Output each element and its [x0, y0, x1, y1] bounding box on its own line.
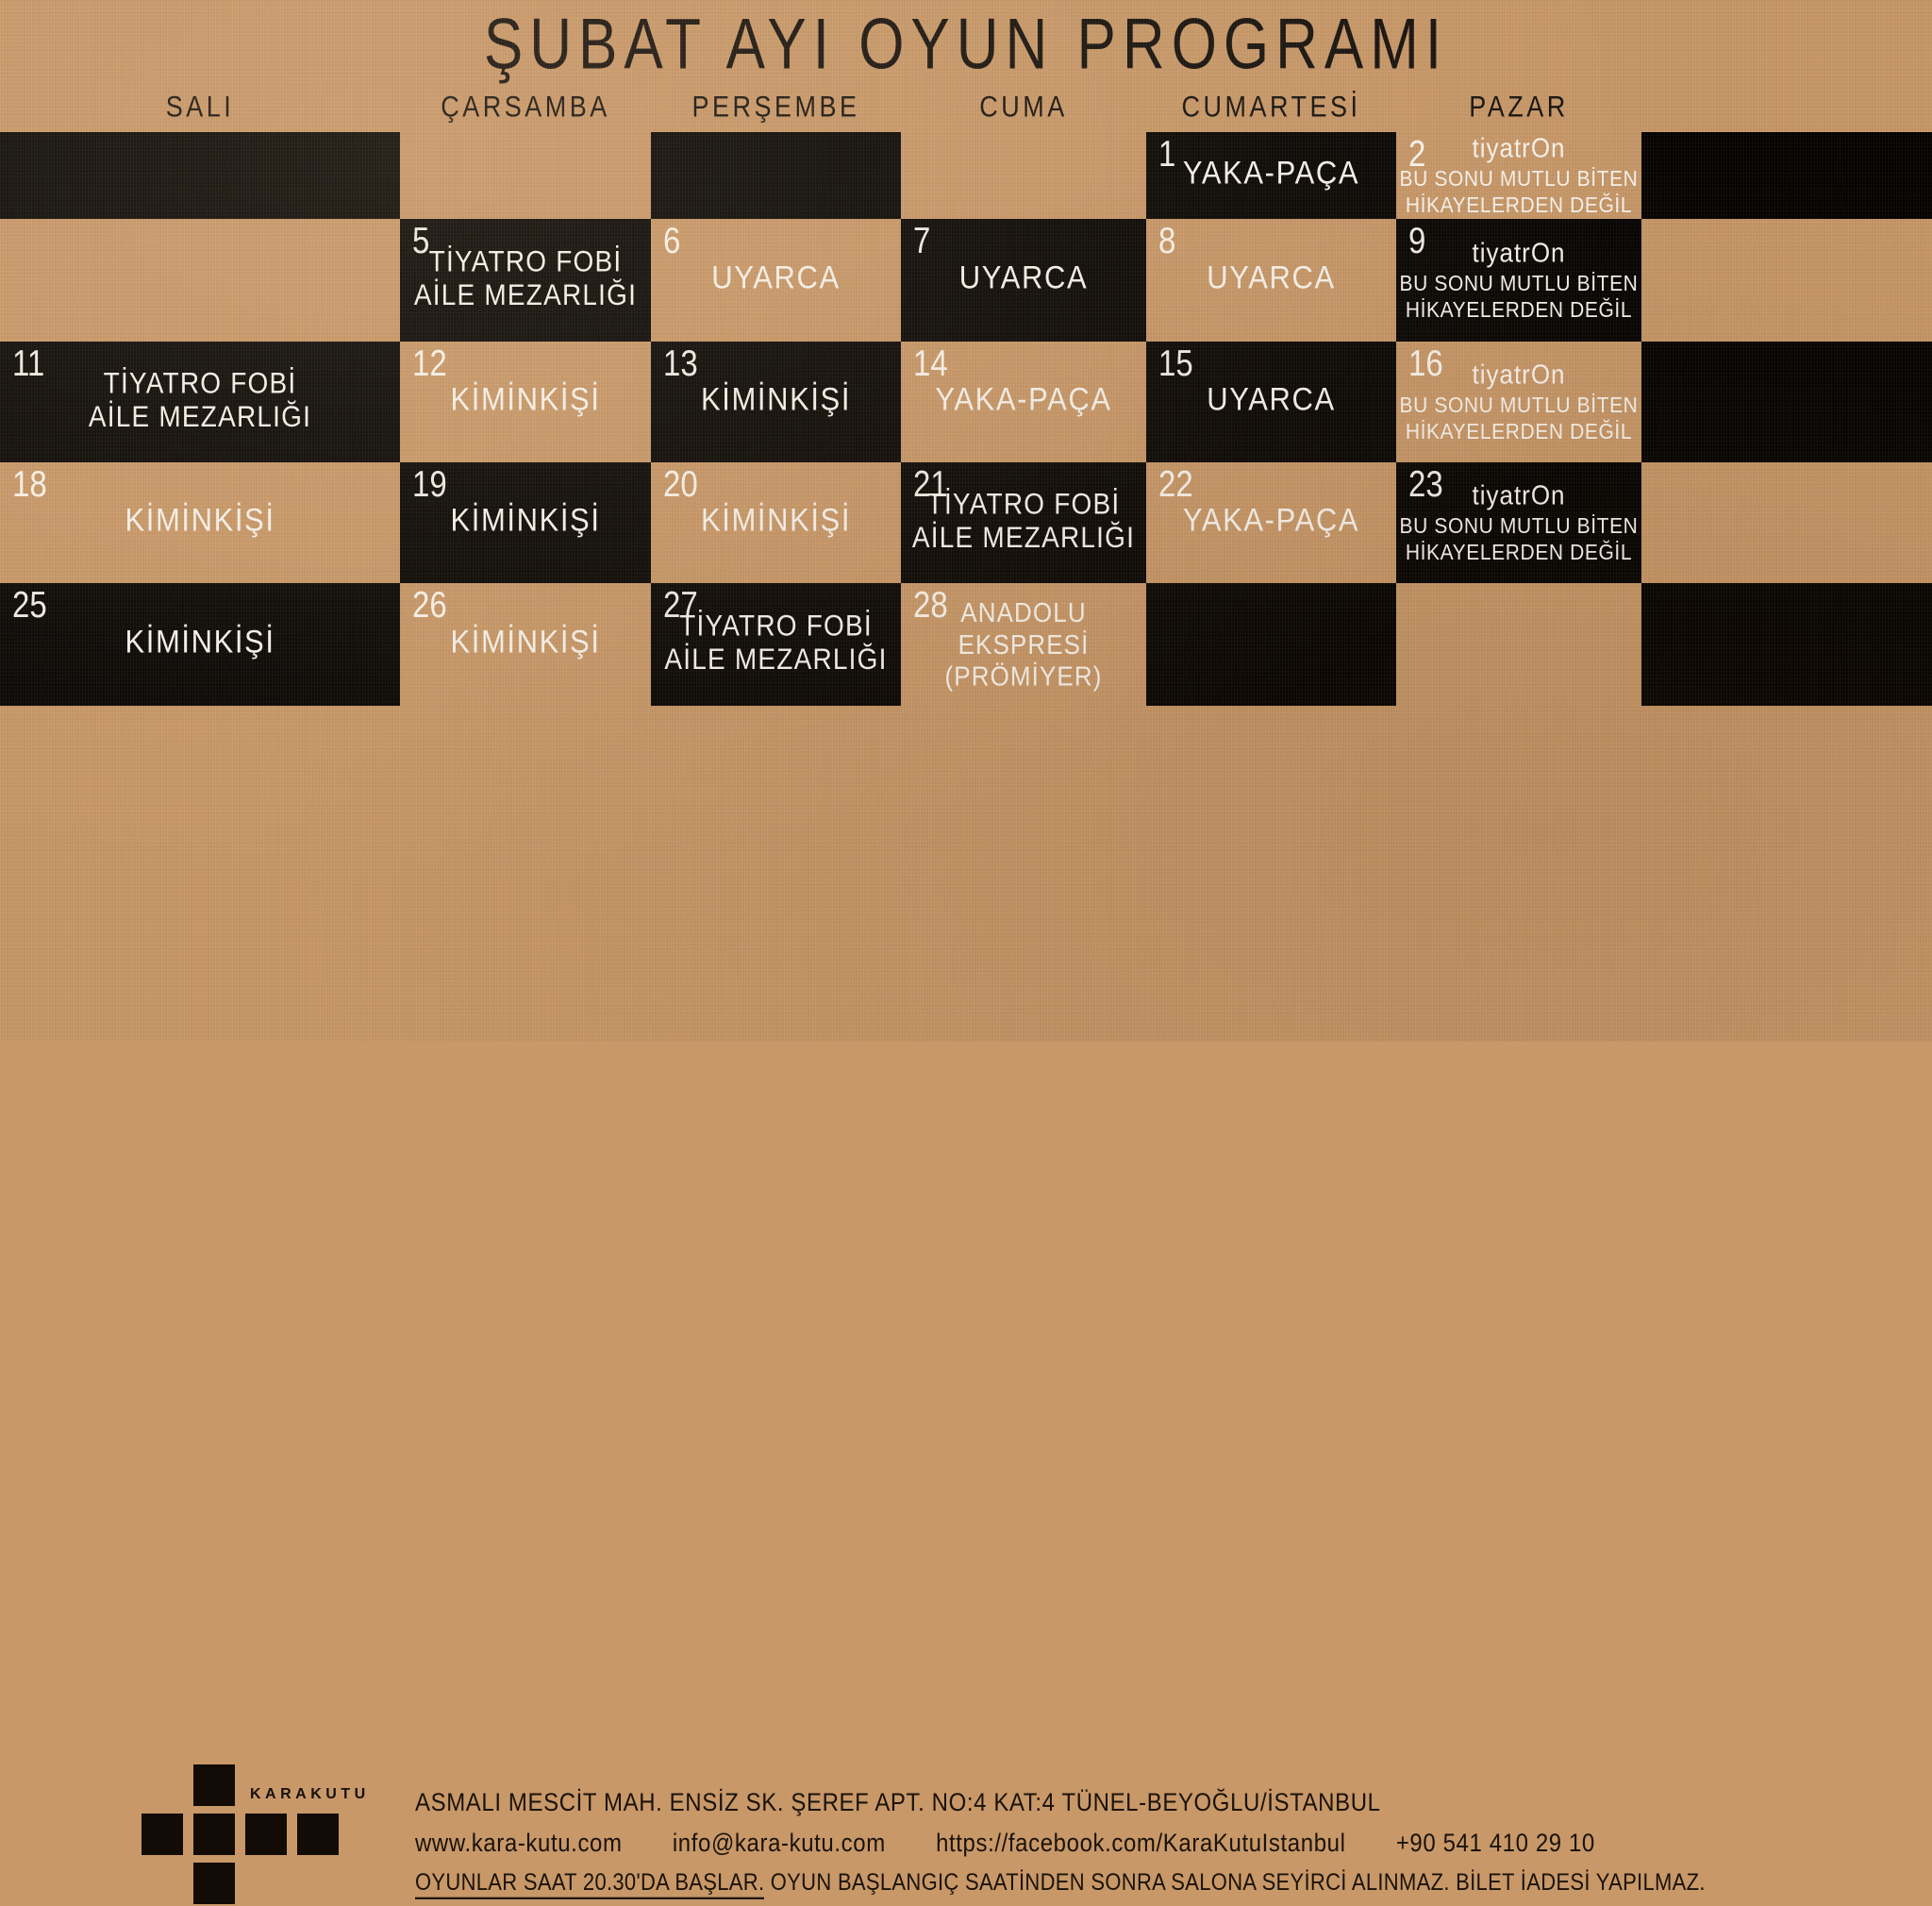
play-title-tiyatron: tiyatrOnBU SONU MUTLU BİTEN HİKAYELERDEN…	[1396, 479, 1641, 567]
day-number: 8	[1158, 222, 1175, 259]
play-title: TİYATRO FOBİ AİLE MEZARLIĞI	[0, 366, 400, 435]
logo-wordmark: KARAKUTU	[250, 1786, 370, 1803]
tiyatron-subtitle: BU SONU MUTLU BİTEN HİKAYELERDEN DEĞİL	[1396, 272, 1641, 324]
poster-root: ŞUBAT AYI OYUN PROGRAMI SALIÇARSAMBAPERŞ…	[0, 0, 1932, 1042]
logo-square-top	[193, 1764, 235, 1806]
logo-square-right2	[297, 1814, 339, 1855]
calendar-day-empty	[1641, 342, 1932, 462]
calendar-day-empty	[901, 132, 1146, 219]
calendar-day-empty	[1641, 583, 1932, 706]
calendar-day-empty	[1146, 583, 1396, 706]
footer-note-underlined: OYUNLAR SAAT 20.30'DA BAŞLAR.	[415, 1868, 764, 1898]
day-header-perşembe: PERŞEMBE	[651, 91, 901, 125]
calendar-day-23[interactable]: 23tiyatrOnBU SONU MUTLU BİTEN HİKAYELERD…	[1396, 462, 1641, 583]
play-title: KİMİNKİŞİ	[651, 380, 901, 418]
play-title: KİMİNKİŞİ	[400, 623, 651, 660]
day-header-sali: SALI	[0, 91, 400, 125]
calendar-day-6[interactable]: 6UYARCA	[651, 219, 901, 342]
tiyatron-brand: tiyatrOn	[1396, 359, 1641, 391]
calendar-day-1[interactable]: 1YAKA-PAÇA	[1146, 132, 1396, 219]
calendar-day-26[interactable]: 26KİMİNKİŞİ	[400, 583, 651, 706]
footer-contact-row: www.kara-kutu.com info@kara-kutu.com htt…	[415, 1829, 1595, 1858]
calendar-day-empty	[0, 219, 400, 342]
calendar-day-empty	[0, 132, 400, 219]
logo-square-right1	[245, 1814, 287, 1855]
page-title: ŞUBAT AYI OYUN PROGRAMI	[0, 4, 1932, 86]
calendar-day-13[interactable]: 13KİMİNKİŞİ	[651, 342, 901, 462]
footer: KARAKUTU ASMALI MESCİT MAH. ENSİZ SK. ŞE…	[0, 878, 1932, 1042]
day-header-row: SALIÇARSAMBAPERŞEMBECUMACUMARTESİPAZAR	[0, 91, 1932, 130]
calendar-day-empty	[400, 132, 651, 219]
day-header-cuma: CUMA	[901, 91, 1146, 125]
calendar-day-12[interactable]: 12KİMİNKİŞİ	[400, 342, 651, 462]
footer-note-rest: OYUN BAŞLANGIÇ SAATİNDEN SONRA SALONA SE…	[764, 1868, 1705, 1895]
calendar-day-22[interactable]: 22YAKA-PAÇA	[1146, 462, 1396, 583]
play-title: KİMİNKİŞİ	[0, 501, 400, 539]
play-title-tiyatron: tiyatrOnBU SONU MUTLU BİTEN HİKAYELERDEN…	[1396, 237, 1641, 325]
calendar-day-2[interactable]: 2tiyatrOnBU SONU MUTLU BİTEN HİKAYELERDE…	[1396, 132, 1641, 219]
play-title: UYARCA	[1146, 380, 1396, 418]
calendar-day-21[interactable]: 21TİYATRO FOBİ AİLE MEZARLIĞI	[901, 462, 1146, 583]
calendar-day-25[interactable]: 25KİMİNKİŞİ	[0, 583, 400, 706]
day-number: 25	[12, 586, 47, 623]
calendar-day-5[interactable]: 5TİYATRO FOBİ AİLE MEZARLIĞI	[400, 219, 651, 342]
calendar-day-9[interactable]: 9tiyatrOnBU SONU MUTLU BİTEN HİKAYELERDE…	[1396, 219, 1641, 342]
footer-address: ASMALI MESCİT MAH. ENSİZ SK. ŞEREF APT. …	[415, 1788, 1381, 1817]
play-title: UYARCA	[901, 259, 1146, 296]
play-title: TİYATRO FOBİ AİLE MEZARLIĞI	[651, 609, 901, 677]
calendar-grid: 1YAKA-PAÇA2tiyatrOnBU SONU MUTLU BİTEN H…	[0, 132, 1932, 878]
logo-square-left	[142, 1814, 183, 1855]
calendar-day-20[interactable]: 20KİMİNKİŞİ	[651, 462, 901, 583]
play-title: YAKA-PAÇA	[1146, 501, 1396, 539]
day-number: 13	[663, 344, 698, 381]
footer-facebook[interactable]: https://facebook.com/KaraKutuIstanbul	[936, 1829, 1345, 1857]
day-number: 12	[412, 344, 447, 381]
tiyatron-brand: tiyatrOn	[1396, 132, 1641, 163]
play-title: KİMİNKİŞİ	[400, 501, 651, 539]
day-number: 15	[1158, 344, 1193, 381]
footer-note: OYUNLAR SAAT 20.30'DA BAŞLAR. OYUN BAŞLA…	[415, 1868, 1706, 1896]
day-number: 26	[412, 586, 447, 623]
day-number: 14	[913, 344, 948, 381]
day-number: 19	[412, 465, 447, 502]
calendar-day-empty	[1641, 132, 1932, 219]
play-title: TİYATRO FOBİ AİLE MEZARLIĞI	[400, 244, 651, 313]
footer-website[interactable]: www.kara-kutu.com	[415, 1829, 623, 1857]
calendar-day-empty	[1396, 583, 1641, 706]
play-title: YAKA-PAÇA	[901, 380, 1146, 418]
calendar-day-empty	[1641, 462, 1932, 583]
day-number: 7	[913, 222, 930, 259]
calendar-day-8[interactable]: 8UYARCA	[1146, 219, 1396, 342]
calendar-day-19[interactable]: 19KİMİNKİŞİ	[400, 462, 651, 583]
play-title-tiyatron: tiyatrOnBU SONU MUTLU BİTEN HİKAYELERDEN…	[1396, 132, 1641, 219]
play-title: KİMİNKİŞİ	[0, 623, 400, 660]
play-title: KİMİNKİŞİ	[400, 380, 651, 418]
day-header-çarsamba: ÇARSAMBA	[400, 91, 651, 125]
calendar-day-15[interactable]: 15UYARCA	[1146, 342, 1396, 462]
day-number: 22	[1158, 465, 1193, 502]
calendar-day-27[interactable]: 27TİYATRO FOBİ AİLE MEZARLIĞI	[651, 583, 901, 706]
calendar-day-18[interactable]: 18KİMİNKİŞİ	[0, 462, 400, 583]
day-header-cumartesi̇: CUMARTESİ	[1146, 91, 1396, 125]
logo-square-bottom	[193, 1863, 235, 1904]
calendar-day-14[interactable]: 14YAKA-PAÇA	[901, 342, 1146, 462]
play-title: TİYATRO FOBİ AİLE MEZARLIĞI	[901, 487, 1146, 556]
calendar-day-28[interactable]: 28ANADOLU EKSPRESİ (PRÖMİYER)	[901, 583, 1146, 706]
play-title: YAKA-PAÇA	[1146, 154, 1396, 192]
day-header-pazar: PAZAR	[1396, 91, 1641, 125]
tiyatron-brand: tiyatrOn	[1396, 479, 1641, 511]
tiyatron-subtitle: BU SONU MUTLU BİTEN HİKAYELERDEN DEĞİL	[1396, 514, 1641, 566]
footer-phone[interactable]: +90 541 410 29 10	[1396, 1829, 1595, 1857]
tiyatron-subtitle: BU SONU MUTLU BİTEN HİKAYELERDEN DEĞİL	[1396, 167, 1641, 219]
play-title: KİMİNKİŞİ	[651, 501, 901, 539]
calendar-day-16[interactable]: 16tiyatrOnBU SONU MUTLU BİTEN HİKAYELERD…	[1396, 342, 1641, 462]
play-title: ANADOLU EKSPRESİ (PRÖMİYER)	[901, 596, 1146, 692]
day-number: 20	[663, 465, 698, 502]
play-title: UYARCA	[1146, 259, 1396, 296]
logo-square-center	[193, 1814, 235, 1855]
tiyatron-brand: tiyatrOn	[1396, 237, 1641, 269]
day-number: 18	[12, 465, 47, 502]
day-number: 6	[663, 222, 680, 259]
calendar-day-empty	[651, 132, 901, 219]
play-title-tiyatron: tiyatrOnBU SONU MUTLU BİTEN HİKAYELERDEN…	[1396, 359, 1641, 446]
calendar-day-empty	[1641, 219, 1932, 342]
play-title: UYARCA	[651, 259, 901, 296]
calendar-day-11[interactable]: 11TİYATRO FOBİ AİLE MEZARLIĞI	[0, 342, 400, 462]
footer-email[interactable]: info@kara-kutu.com	[673, 1829, 886, 1857]
tiyatron-subtitle: BU SONU MUTLU BİTEN HİKAYELERDEN DEĞİL	[1396, 393, 1641, 445]
calendar-day-7[interactable]: 7UYARCA	[901, 219, 1146, 342]
